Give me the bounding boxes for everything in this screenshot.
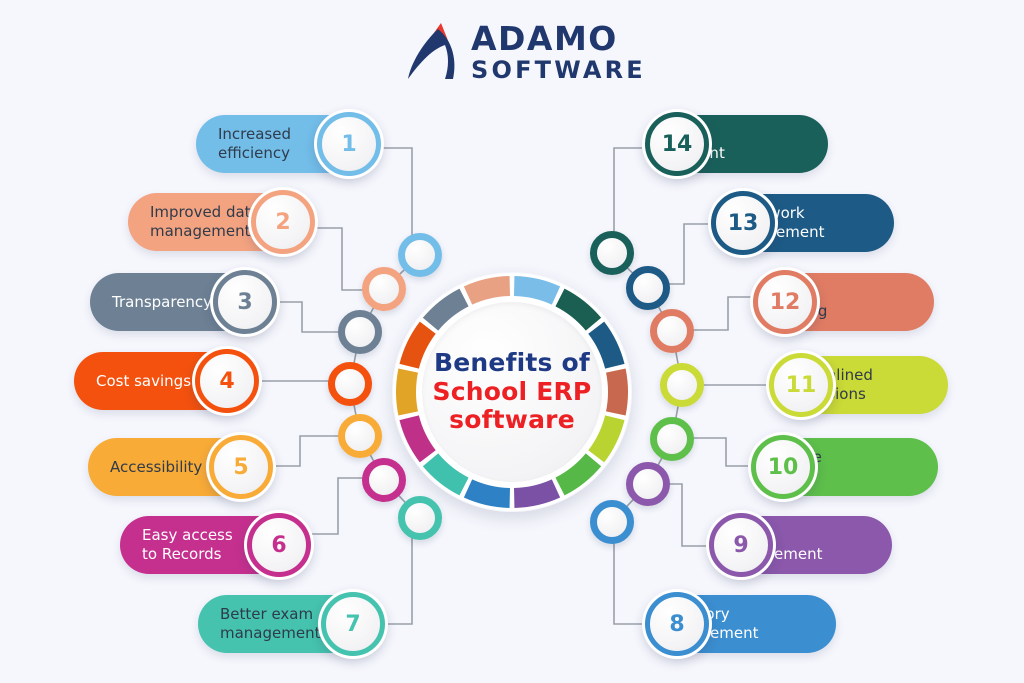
connector-line-3: [278, 302, 338, 332]
connector-line-14: [614, 148, 642, 240]
connector-line-12: [692, 297, 752, 330]
benefit-pill-6[interactable]: Easy access to Records6: [120, 516, 306, 574]
benefit-number-9: 9: [709, 513, 773, 577]
benefit-number-5: 5: [209, 435, 273, 499]
benefit-pill-10[interactable]: 10Remote access: [756, 438, 938, 496]
benefit-number-6: 6: [247, 513, 311, 577]
arc-node-14[interactable]: [590, 231, 634, 275]
benefit-number-badge-3[interactable]: 3: [210, 267, 280, 337]
arc-node-11[interactable]: [660, 363, 704, 407]
benefit-number-badge-13[interactable]: 13: [708, 188, 778, 258]
benefit-pill-11[interactable]: 11Streamlined admissions: [774, 356, 948, 414]
benefit-number-badge-14[interactable]: 14: [642, 109, 712, 179]
hub-title-line3: software: [449, 406, 575, 435]
benefit-pill-2[interactable]: Improved data management2: [128, 193, 310, 251]
benefit-pill-1[interactable]: Increased efficiency1: [196, 115, 376, 173]
benefit-label-2: Improved data management: [128, 203, 264, 241]
arc-node-13[interactable]: [626, 266, 670, 310]
arc-node-7[interactable]: [398, 496, 442, 540]
hub-ring-segment: [606, 369, 628, 416]
benefit-number-badge-5[interactable]: 5: [206, 432, 276, 502]
connector-line-1: [382, 148, 412, 243]
arc-node-4[interactable]: [328, 362, 372, 406]
benefit-pill-13[interactable]: 13Homework management: [716, 194, 894, 252]
benefit-number-3: 3: [213, 270, 277, 334]
benefit-number-badge-11[interactable]: 11: [766, 350, 836, 420]
adamo-software-logo: ADAMO SOFTWARE: [405, 18, 635, 86]
benefit-pill-12[interactable]: 12Asset tracking: [758, 273, 934, 331]
benefit-number-badge-1[interactable]: 1: [314, 109, 384, 179]
benefit-pill-5[interactable]: Accessibility5: [88, 438, 268, 496]
benefit-label-3: Transparency: [90, 293, 216, 312]
hub-ring-segment: [396, 369, 418, 416]
connector-line-5: [276, 436, 340, 466]
benefit-number-14: 14: [645, 112, 709, 176]
hub-title-line2: School ERP: [433, 378, 592, 407]
benefit-number-badge-8[interactable]: 8: [642, 589, 712, 659]
benefit-number-badge-4[interactable]: 4: [192, 346, 262, 416]
arc-node-2[interactable]: [362, 267, 406, 311]
infographic-canvas: ADAMO SOFTWARE Benefits of School ERP so…: [0, 0, 1024, 683]
arc-node-1[interactable]: [398, 233, 442, 277]
benefit-number-badge-12[interactable]: 12: [750, 267, 820, 337]
arc-node-5[interactable]: [338, 414, 382, 458]
arc-node-3[interactable]: [338, 310, 382, 354]
hub-title-line1: Benefits of: [434, 349, 590, 378]
benefit-number-1: 1: [317, 112, 381, 176]
arc-node-10[interactable]: [650, 417, 694, 461]
benefit-number-badge-6[interactable]: 6: [244, 510, 314, 580]
connector-line-6: [312, 478, 366, 534]
benefit-pill-14[interactable]: 14Secure payment: [650, 115, 828, 173]
benefit-pill-8[interactable]: 8Inventory management: [650, 595, 836, 653]
benefit-label-4: Cost savings: [74, 372, 195, 391]
benefit-label-5: Accessibility: [88, 458, 206, 477]
hub-title-block: Benefits of School ERP software: [422, 302, 602, 482]
benefit-number-11: 11: [769, 353, 833, 417]
benefit-number-7: 7: [321, 592, 385, 656]
logo-name-top: ADAMO: [471, 22, 646, 55]
center-hub: Benefits of School ERP software: [392, 272, 632, 512]
logo-name-bottom: SOFTWARE: [471, 58, 646, 82]
arc-node-8[interactable]: [590, 500, 634, 544]
benefit-pill-7[interactable]: Better exam management7: [198, 595, 380, 653]
benefit-number-2: 2: [251, 190, 315, 254]
arc-node-6[interactable]: [362, 458, 406, 502]
benefit-label-1: Increased efficiency: [196, 125, 295, 163]
connector-line-10: [690, 438, 750, 466]
benefit-number-12: 12: [753, 270, 817, 334]
logo-wordmark: ADAMO SOFTWARE: [471, 22, 646, 82]
benefit-pill-9[interactable]: 9Staff management: [714, 516, 892, 574]
benefit-number-13: 13: [711, 191, 775, 255]
arc-node-12[interactable]: [650, 309, 694, 353]
benefit-pill-3[interactable]: Transparency3: [90, 273, 272, 331]
benefit-number-8: 8: [645, 592, 709, 656]
arc-node-9[interactable]: [626, 462, 670, 506]
benefit-number-badge-2[interactable]: 2: [248, 187, 318, 257]
benefit-label-7: Better exam management: [198, 605, 324, 643]
benefit-number-10: 10: [751, 435, 815, 499]
benefit-number-4: 4: [195, 349, 259, 413]
benefit-number-badge-10[interactable]: 10: [748, 432, 818, 502]
benefit-number-badge-7[interactable]: 7: [318, 589, 388, 659]
adamo-swoosh-icon: [405, 21, 461, 83]
benefit-label-6: Easy access to Records: [120, 526, 237, 564]
benefit-number-badge-9[interactable]: 9: [706, 510, 776, 580]
benefit-pill-4[interactable]: Cost savings4: [74, 352, 254, 410]
